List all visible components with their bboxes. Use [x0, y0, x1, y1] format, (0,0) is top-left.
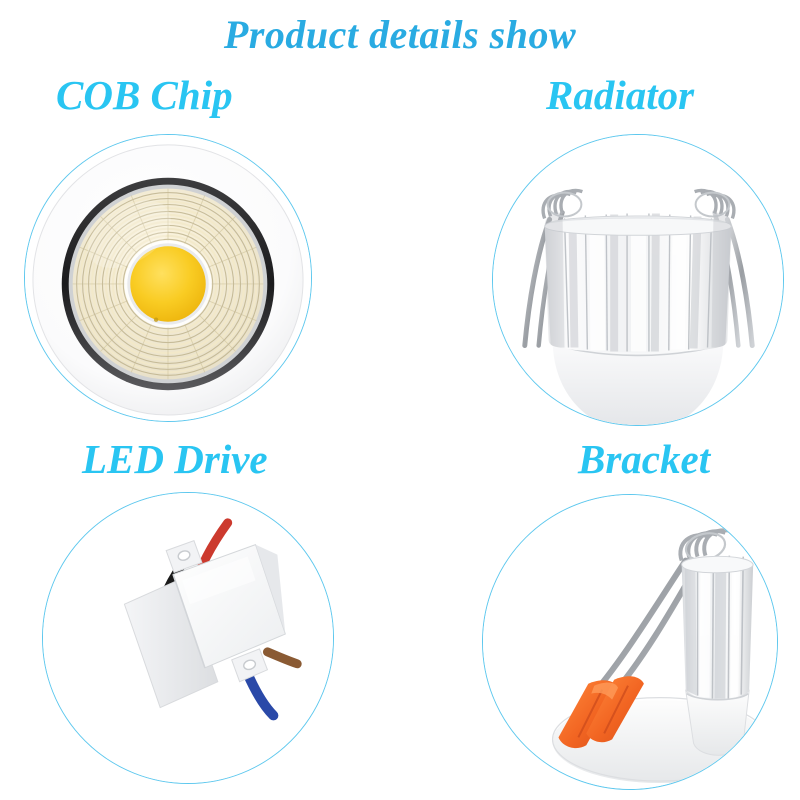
section-label-led-drive: LED Drive: [82, 436, 268, 482]
radiator-illustration: [493, 135, 783, 425]
photo-cob-chip: [24, 134, 312, 422]
page-title: Product details show: [0, 12, 800, 58]
led-drive-illustration: [43, 493, 333, 783]
photo-radiator: [492, 134, 784, 426]
bracket-illustration: [483, 495, 777, 789]
section-label-bracket: Bracket: [578, 436, 710, 482]
lamp-heatsink-body: [682, 556, 754, 756]
photo-led-drive: [42, 492, 334, 784]
section-label-cob-chip: COB Chip: [56, 72, 233, 118]
section-label-radiator: Radiator: [546, 72, 694, 118]
product-details-page: Product details show COB Chip Radiator L…: [0, 0, 800, 800]
heatsink-fins: [545, 213, 732, 352]
cob-chip-illustration: [25, 135, 311, 421]
photo-bracket: [482, 494, 778, 790]
